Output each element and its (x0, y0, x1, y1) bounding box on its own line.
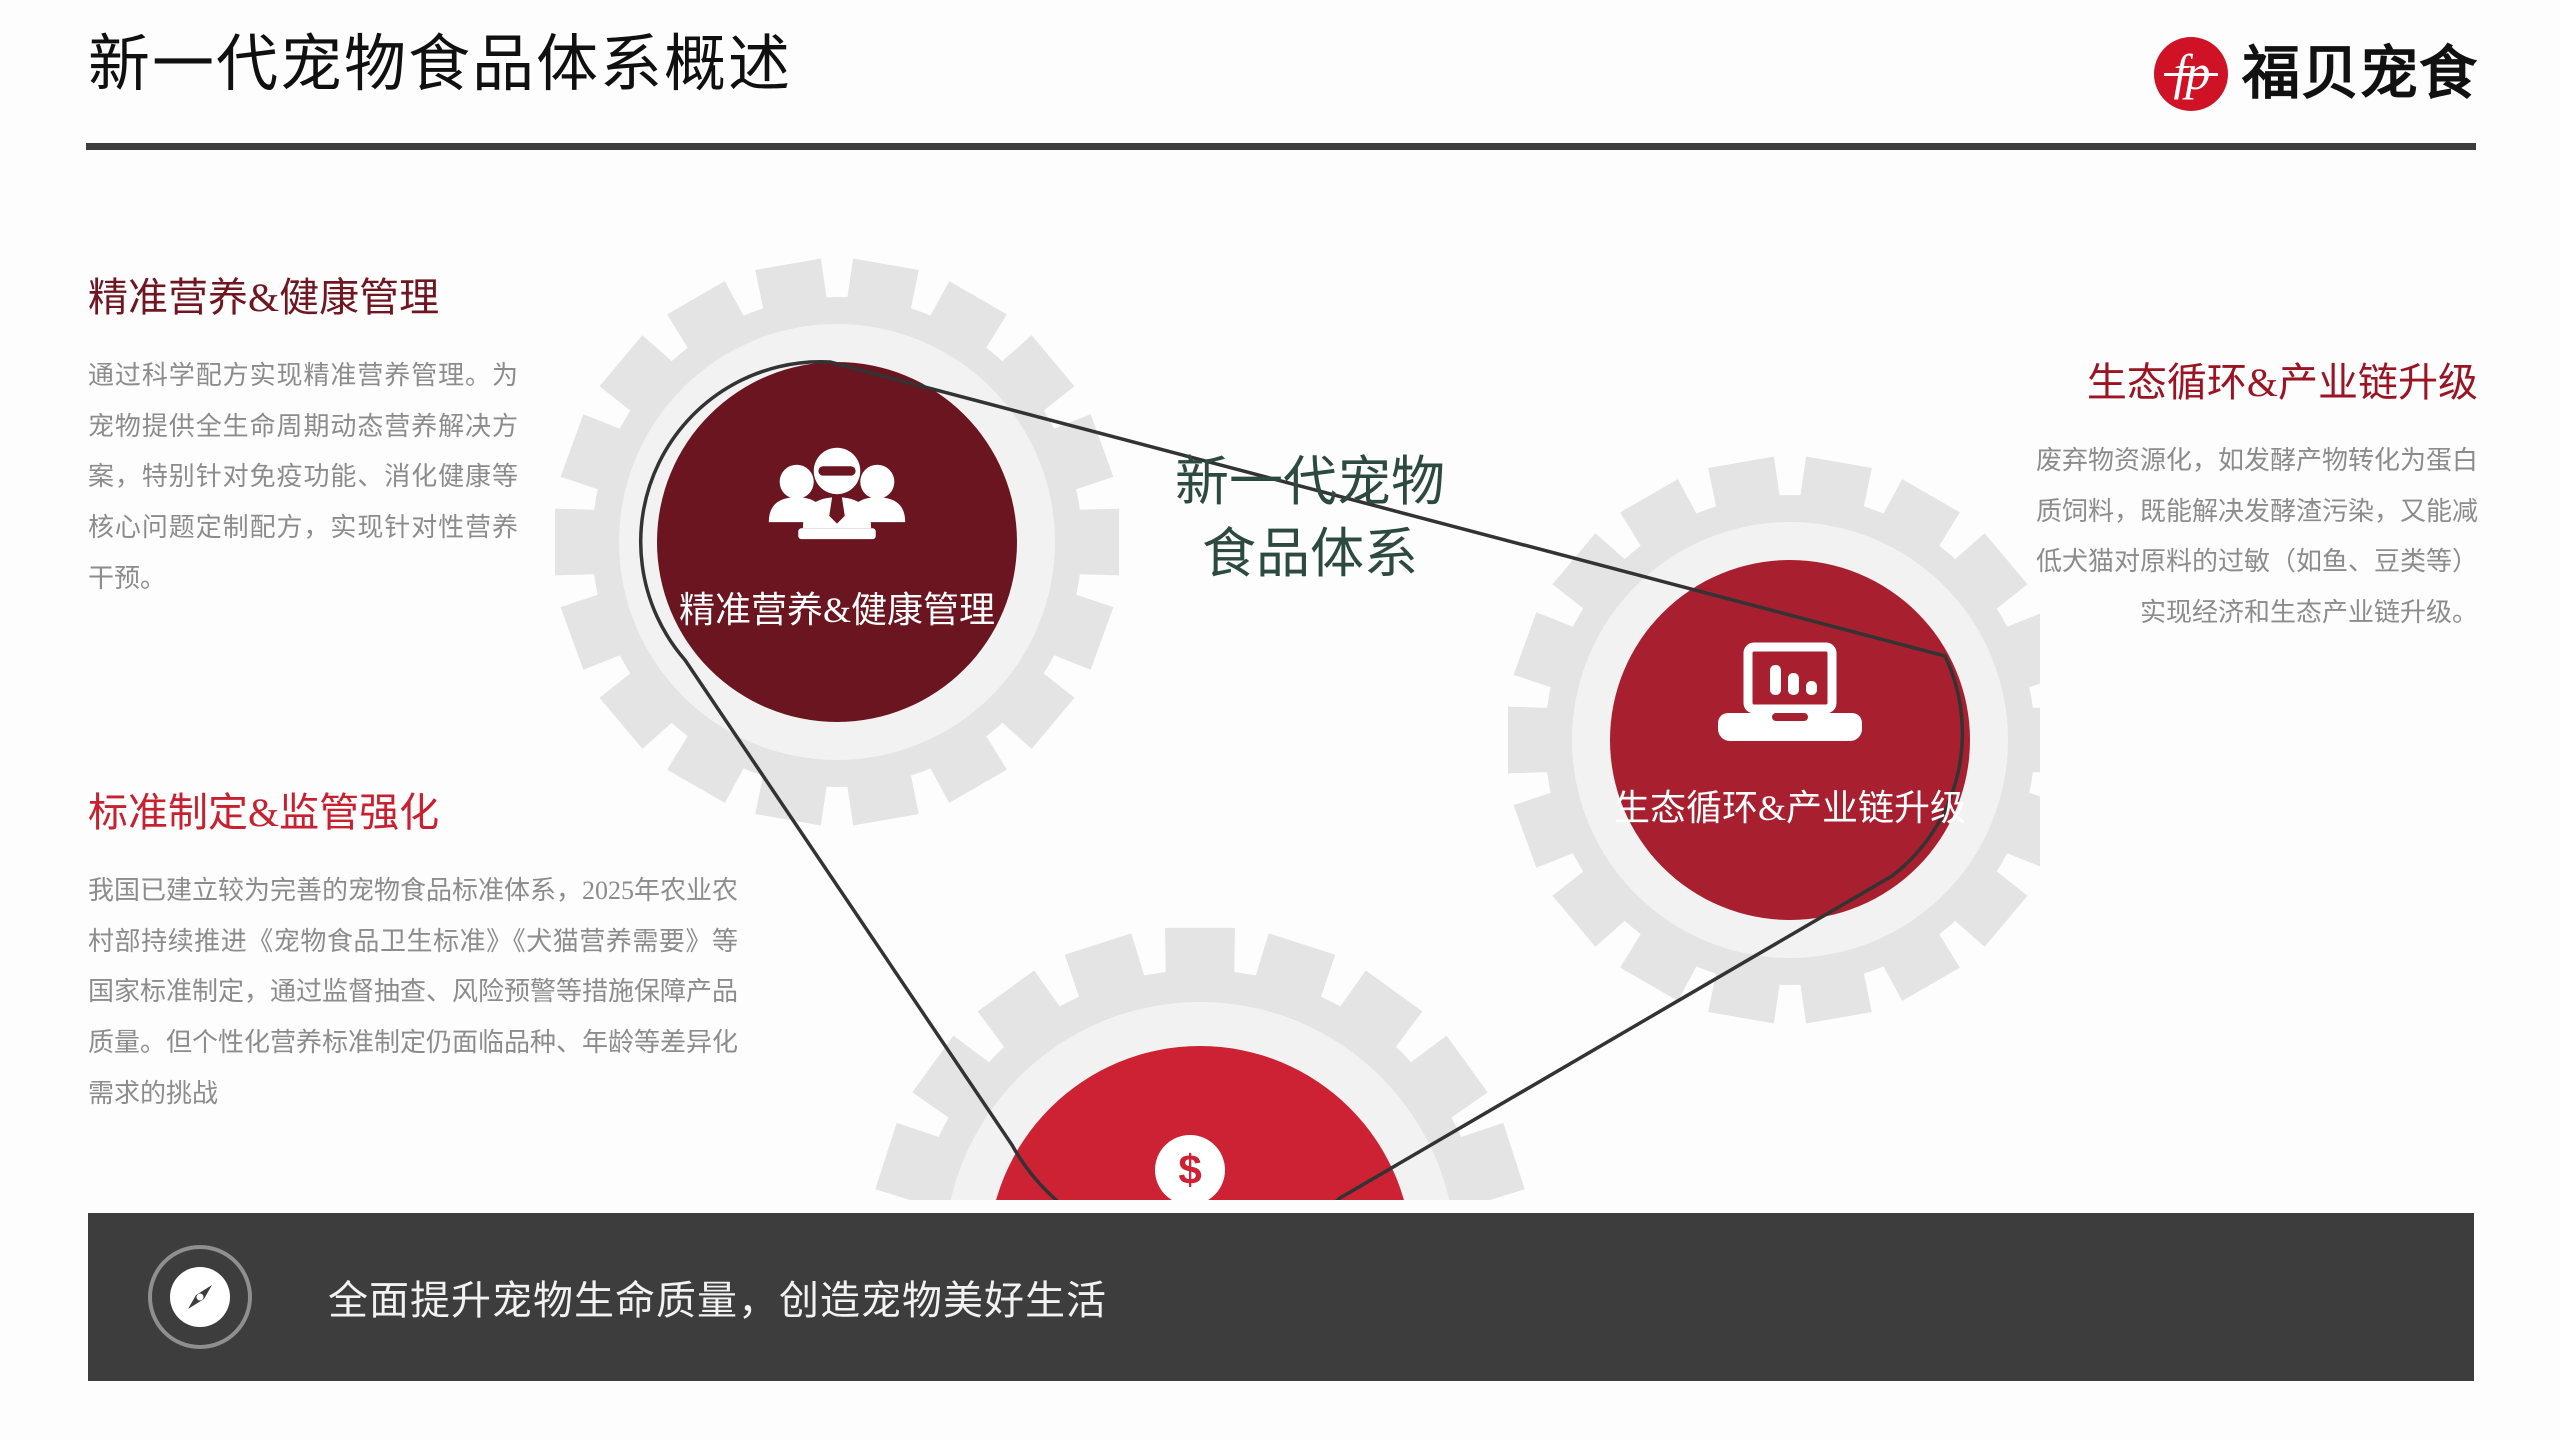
gear-hub-nutrition (657, 362, 1017, 722)
slide-header: 新一代宠物食品体系概述 fp 福贝宠食 (0, 0, 2560, 160)
logo-mark-icon: fp (2154, 37, 2228, 111)
text-block-ecology: 生态循环&产业链升级 废弃物资源化，如发酵产物转化为蛋白质饲料，既能解决发酵渣污… (2016, 360, 2478, 639)
block-body-ecology: 废弃物资源化，如发酵产物转化为蛋白质饲料，既能解决发酵渣污染，又能减低犬猫对原料… (2016, 436, 2478, 639)
node-label-nutrition: 精准营养&健康管理 (679, 590, 995, 630)
svg-text:$: $ (1178, 1146, 1201, 1193)
page-title: 新一代宠物食品体系概述 (88, 34, 792, 96)
block-heading-ecology: 生态循环&产业链升级 (2016, 360, 2478, 406)
compass-icon (146, 1243, 254, 1351)
footer-bar: 全面提升宠物生命质量，创造宠物美好生活 (88, 1213, 2474, 1381)
diagram-center-caption-line1: 新一代宠物 (1175, 452, 1445, 512)
logo-crossbar (2164, 73, 2218, 76)
gear-diagram: 精准营养&健康管理 生态循环&产业链升级 $ 标准制定& 监管强化 (540, 140, 2040, 1200)
footer-text: 全面提升宠物生命质量，创造宠物美好生活 (328, 1213, 1107, 1381)
brand-name: 福贝宠食 (2242, 45, 2478, 103)
text-block-nutrition: 精准营养&健康管理 通过科学配方实现精准营养管理。为宠物提供全生命周期动态营养解… (88, 275, 518, 604)
brand-logo: fp 福贝宠食 (2154, 36, 2478, 112)
block-body-nutrition: 通过科学配方实现精准营养管理。为宠物提供全生命周期动态营养解决方案，特别针对免疫… (88, 351, 518, 604)
block-heading-nutrition: 精准营养&健康管理 (88, 275, 518, 321)
node-label-ecology: 生态循环&产业链升级 (1614, 788, 1966, 828)
diagram-center-caption-line2: 食品体系 (1202, 524, 1418, 584)
